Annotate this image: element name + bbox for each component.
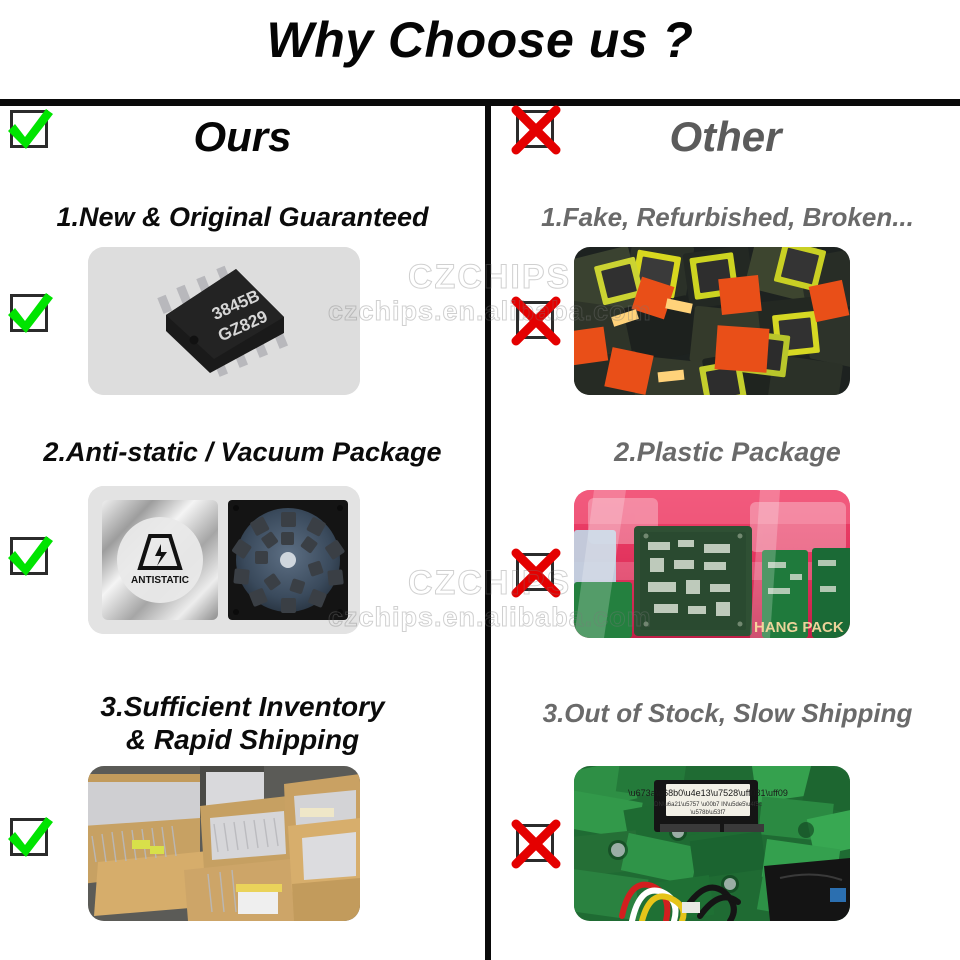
green-check-icon xyxy=(4,104,56,156)
inventory-boxes-photo xyxy=(88,766,360,921)
svg-text:\u673a\u68b0\u4e13\u7528\uff08: \u673a\u68b0\u4e13\u7528\uff081\uff09 xyxy=(628,788,788,798)
red-cross-icon xyxy=(510,104,562,156)
feature-label-ours-1: 1.New & Original Guaranteed xyxy=(0,202,485,234)
svg-text:HANG PACK: HANG PACK xyxy=(754,619,844,636)
column-heading-ours: Ours xyxy=(0,113,485,161)
svg-text:DN\u6a21\u5757 \u00b7 IN\u5d: DN\u6a21\u5757 \u00b7 IN\u5de5\u4f5c xyxy=(654,802,762,808)
feature-label-ours-2: 2.Anti-static / Vacuum Package xyxy=(0,437,485,469)
page-title: Why Choose us ? xyxy=(0,14,960,67)
green-check-icon xyxy=(4,288,56,340)
feature-label-other-3: 3.Out of Stock, Slow Shipping xyxy=(495,698,960,729)
new-original-chip-photo: 3845B GZ829 xyxy=(88,247,360,395)
feature-label-ours-3: 3.Sufficient Inventory & Rapid Shipping xyxy=(0,690,485,756)
header-divider-rule xyxy=(0,99,960,106)
svg-text:ANTISTATIC: ANTISTATIC xyxy=(131,575,189,586)
feature-label-other-2: 2.Plastic Package xyxy=(495,437,960,469)
feature-label-other-1: 1.Fake, Refurbished, Broken... xyxy=(495,202,960,233)
pcb-scrap-pile-photo: \u673a\u68b0\u4e13\u7528\uff081\uff09 DN… xyxy=(574,766,850,921)
scrap-chips-photo xyxy=(574,247,850,395)
red-cross-icon xyxy=(510,547,562,599)
green-check-icon xyxy=(4,812,56,864)
svg-text:\u578b\u53f7: \u578b\u53f7 xyxy=(690,810,726,816)
green-check-icon xyxy=(4,531,56,583)
antistatic-vacuum-package-photo: ANTISTATIC xyxy=(88,486,360,634)
column-divider-rule xyxy=(485,106,491,960)
plastic-package-photo: HANG PACK xyxy=(574,490,850,638)
red-cross-icon xyxy=(510,818,562,870)
comparison-infographic: Why Choose us ? Ours Other xyxy=(0,0,960,960)
red-cross-icon xyxy=(510,295,562,347)
